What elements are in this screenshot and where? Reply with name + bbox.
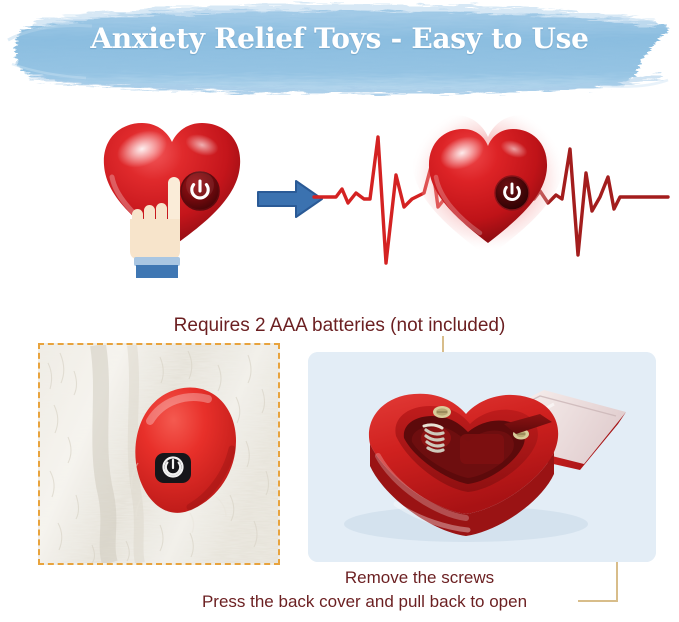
photo-battery-compartment [308,352,656,562]
battery-compartment-artwork [308,352,656,562]
photo-heart-in-fur [38,343,280,565]
page-title: Anxiety Relief Toys - Easy to Use [0,22,679,55]
caption-press-cover: Press the back cover and pull back to op… [0,592,679,612]
caption-remove-screws-text: Remove the screws [345,568,494,587]
power-button-icon [495,176,529,210]
step-illustration-row [0,105,679,295]
caption-remove-screws: Remove the screws [0,568,679,588]
caption-press-cover-text: Press the back cover and pull back to op… [202,592,527,611]
screw-top [433,406,451,418]
caption-battery: Requires 2 AAA batteries (not included) [0,315,679,337]
sleeve-cuff [134,257,180,266]
pointing-hand-icon [118,173,202,278]
hand-fingers [130,177,180,259]
header-banner: Anxiety Relief Toys - Easy to Use [0,0,679,105]
power-button-icon [155,453,191,483]
infographic-canvas: Anxiety Relief Toys - Easy to Use [0,0,679,622]
heart-device-right [424,123,552,251]
fur-photo-artwork [40,345,278,563]
sleeve [136,265,178,278]
